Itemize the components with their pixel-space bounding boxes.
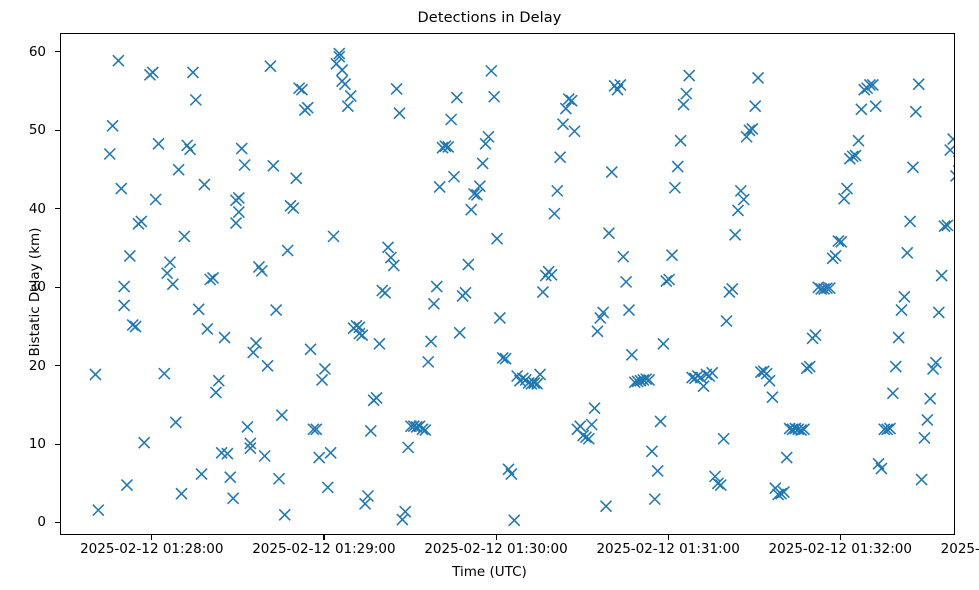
scatter-point bbox=[876, 463, 887, 474]
scatter-point bbox=[477, 158, 488, 169]
scatter-point bbox=[342, 101, 353, 112]
scatter-point bbox=[423, 356, 434, 367]
scatter-point bbox=[830, 250, 841, 261]
scatter-point bbox=[173, 164, 184, 175]
scatter-point bbox=[506, 469, 517, 480]
scatter-point bbox=[902, 247, 913, 258]
scatter-point bbox=[190, 94, 201, 105]
scatter-point bbox=[256, 265, 267, 276]
x-tick-mark bbox=[840, 535, 841, 540]
scatter-point bbox=[119, 281, 130, 292]
scatter-point bbox=[282, 245, 293, 256]
scatter-point bbox=[649, 494, 660, 505]
scatter-point bbox=[446, 114, 457, 125]
scatter-point bbox=[919, 432, 930, 443]
scatter-point bbox=[615, 79, 626, 90]
scatter-point bbox=[317, 374, 328, 385]
scatter-point bbox=[262, 360, 273, 371]
scatter-point bbox=[893, 332, 904, 343]
scatter-point bbox=[116, 183, 127, 194]
scatter-point bbox=[236, 143, 247, 154]
scatter-point bbox=[592, 326, 603, 337]
scatter-point bbox=[936, 270, 947, 281]
scatter-point bbox=[537, 287, 548, 298]
scatter-point bbox=[896, 305, 907, 316]
scatter-point bbox=[890, 361, 901, 372]
scatter-point bbox=[159, 368, 170, 379]
scatter-point bbox=[259, 450, 270, 461]
x-tick-label: 2025-02-12 01:33:00 bbox=[902, 541, 979, 557]
scatter-point bbox=[675, 135, 686, 146]
scatter-point bbox=[196, 469, 207, 480]
scatter-point bbox=[623, 305, 634, 316]
scatter-point bbox=[337, 65, 348, 76]
scatter-point bbox=[721, 316, 732, 327]
scatter-point bbox=[684, 70, 695, 81]
x-tick-mark bbox=[151, 535, 152, 540]
scatter-point bbox=[251, 338, 262, 349]
figure-canvas: Detections in Delay 0102030405060 2025-0… bbox=[0, 0, 979, 590]
scatter-point bbox=[558, 119, 569, 130]
scatter-point bbox=[374, 338, 385, 349]
scatter-point bbox=[672, 161, 683, 172]
scatter-point bbox=[569, 126, 580, 137]
scatter-point bbox=[136, 216, 147, 227]
scatter-point bbox=[598, 307, 609, 318]
scatter-point bbox=[388, 260, 399, 271]
y-tick-label: 0 bbox=[0, 514, 46, 530]
scatter-point bbox=[431, 281, 442, 292]
scatter-point bbox=[150, 194, 161, 205]
scatter-point bbox=[193, 304, 204, 315]
scatter-point bbox=[856, 104, 867, 115]
scatter-point bbox=[945, 145, 955, 156]
scatter-point bbox=[870, 101, 881, 112]
scatter-point bbox=[239, 159, 250, 170]
scatter-point bbox=[451, 92, 462, 103]
x-tick-mark bbox=[323, 535, 324, 540]
scatter-point bbox=[276, 410, 287, 421]
scatter-point bbox=[448, 171, 459, 182]
scatter-point bbox=[383, 242, 394, 253]
scatter-point bbox=[953, 156, 955, 167]
scatter-point bbox=[549, 208, 560, 219]
scatter-point bbox=[655, 416, 666, 427]
scatter-point bbox=[124, 250, 135, 261]
scatter-point bbox=[365, 425, 376, 436]
scatter-point bbox=[371, 392, 382, 403]
scatter-point bbox=[922, 414, 933, 425]
scatter-point bbox=[391, 83, 402, 94]
scatter-point bbox=[185, 144, 196, 155]
scatter-point bbox=[119, 300, 130, 311]
y-tick-mark bbox=[55, 130, 60, 131]
scatter-point bbox=[345, 90, 356, 101]
scatter-point bbox=[753, 72, 764, 83]
scatter-point bbox=[767, 392, 778, 403]
scatter-point bbox=[552, 185, 563, 196]
scatter-point bbox=[302, 102, 313, 113]
scatter-point bbox=[397, 514, 408, 525]
scatter-point bbox=[658, 338, 669, 349]
scatter-point bbox=[139, 437, 150, 448]
scatter-point bbox=[474, 181, 485, 192]
scatter-point bbox=[213, 375, 224, 386]
scatter-point bbox=[810, 330, 821, 341]
y-tick-mark bbox=[55, 444, 60, 445]
scatter-point bbox=[887, 388, 898, 399]
scatter-point bbox=[853, 135, 864, 146]
scatter-point bbox=[839, 193, 850, 204]
scatter-point bbox=[589, 403, 600, 414]
scatter-point bbox=[560, 103, 571, 114]
scatter-point bbox=[328, 231, 339, 242]
scatter-point bbox=[460, 287, 471, 298]
scatter-point bbox=[274, 473, 285, 484]
scatter-point bbox=[360, 498, 371, 509]
scatter-point bbox=[162, 268, 173, 279]
scatter-point bbox=[90, 369, 101, 380]
scatter-point bbox=[486, 65, 497, 76]
scatter-point bbox=[394, 108, 405, 119]
scatter-point bbox=[494, 312, 505, 323]
scatter-point bbox=[426, 336, 437, 347]
scatter-point bbox=[718, 433, 729, 444]
scatter-point bbox=[268, 160, 279, 171]
y-tick-mark bbox=[55, 365, 60, 366]
scatter-point bbox=[291, 173, 302, 184]
scatter-point bbox=[322, 482, 333, 493]
y-tick-label: 60 bbox=[0, 44, 46, 60]
scatter-point bbox=[781, 452, 792, 463]
scatter-point bbox=[575, 421, 586, 432]
scatter-point bbox=[179, 231, 190, 242]
y-tick-mark bbox=[55, 522, 60, 523]
y-tick-mark bbox=[55, 51, 60, 52]
scatter-point bbox=[339, 79, 350, 90]
scatter-point bbox=[646, 446, 657, 457]
scatter-point bbox=[603, 228, 614, 239]
y-tick-mark bbox=[55, 287, 60, 288]
scatter-point bbox=[907, 162, 918, 173]
scatter-point bbox=[466, 204, 477, 215]
scatter-point bbox=[225, 472, 236, 483]
scatter-point bbox=[951, 170, 956, 181]
scatter-point bbox=[546, 269, 557, 280]
scatter-point bbox=[248, 347, 259, 358]
scatter-point bbox=[385, 252, 396, 263]
scatter-point bbox=[216, 447, 227, 458]
scatter-point bbox=[121, 480, 132, 491]
scatter-point bbox=[454, 327, 465, 338]
scatter-point bbox=[586, 419, 597, 430]
scatter-point bbox=[618, 251, 629, 262]
scatter-point bbox=[601, 501, 612, 512]
scatter-point bbox=[325, 447, 336, 458]
scatter-point bbox=[199, 179, 210, 190]
scatter-point bbox=[153, 138, 164, 149]
scatter-point bbox=[288, 203, 299, 214]
scatter-point bbox=[489, 91, 500, 102]
scatter-point bbox=[750, 101, 761, 112]
scatter-point bbox=[222, 448, 233, 459]
scatter-point bbox=[669, 182, 680, 193]
scatter-point bbox=[187, 67, 198, 78]
scatter-point bbox=[732, 205, 743, 216]
scatter-point bbox=[698, 381, 709, 392]
scatter-point bbox=[228, 493, 239, 504]
scatter-point bbox=[735, 185, 746, 196]
scatter-point bbox=[233, 207, 244, 218]
scatter-point bbox=[681, 88, 692, 99]
scatter-point bbox=[362, 490, 373, 501]
scatter-point bbox=[210, 387, 221, 398]
plot-axes-area[interactable] bbox=[60, 33, 955, 535]
scatter-point bbox=[913, 79, 924, 90]
scatter-point bbox=[509, 515, 520, 526]
scatter-point bbox=[219, 332, 230, 343]
y-tick-label: 50 bbox=[0, 122, 46, 138]
scatter-point bbox=[626, 349, 637, 360]
scatter-point bbox=[279, 509, 290, 520]
scatter-point bbox=[434, 181, 445, 192]
scatter-point bbox=[233, 192, 244, 203]
scatter-point bbox=[165, 257, 176, 268]
scatter-point bbox=[400, 506, 411, 517]
scatter-point bbox=[925, 393, 936, 404]
scatter-point bbox=[176, 488, 187, 499]
scatter-point bbox=[555, 152, 566, 163]
scatter-point bbox=[319, 363, 330, 374]
scatter-point bbox=[933, 307, 944, 318]
scatter-point bbox=[167, 279, 178, 290]
scatter-point bbox=[265, 61, 276, 72]
scatter-point bbox=[899, 291, 910, 302]
scatter-point bbox=[271, 305, 282, 316]
y-tick-mark bbox=[55, 208, 60, 209]
scatter-point bbox=[492, 233, 503, 244]
scatter-point bbox=[916, 474, 927, 485]
scatter-point bbox=[727, 283, 738, 294]
scatter-point bbox=[910, 106, 921, 117]
scatter-point bbox=[730, 229, 741, 240]
y-tick-label: 10 bbox=[0, 436, 46, 452]
scatter-point bbox=[113, 55, 124, 66]
scatter-point bbox=[678, 99, 689, 110]
scatter-point bbox=[428, 298, 439, 309]
y-axis-label: Bistatic Delay (km) bbox=[27, 192, 43, 392]
scatter-point bbox=[305, 344, 316, 355]
scatter-point bbox=[202, 323, 213, 334]
scatter-point bbox=[905, 216, 916, 227]
scatter-point bbox=[667, 250, 678, 261]
scatter-point bbox=[738, 194, 749, 205]
scatter-point bbox=[948, 134, 955, 145]
scatter-point bbox=[463, 259, 474, 270]
scatter-point bbox=[314, 452, 325, 463]
x-tick-mark bbox=[496, 535, 497, 540]
scatter-series-layer bbox=[61, 34, 955, 535]
scatter-point bbox=[93, 505, 104, 516]
scatter-point bbox=[841, 183, 852, 194]
scatter-point bbox=[170, 417, 181, 428]
scatter-point bbox=[147, 67, 158, 78]
scatter-point bbox=[403, 442, 414, 453]
x-tick-mark bbox=[668, 535, 669, 540]
scatter-point bbox=[652, 465, 663, 476]
x-axis-label: Time (UTC) bbox=[0, 564, 979, 580]
scatter-point bbox=[621, 276, 632, 287]
scatter-point bbox=[606, 167, 617, 178]
scatter-point bbox=[380, 287, 391, 298]
scatter-point bbox=[230, 218, 241, 229]
chart-title: Detections in Delay bbox=[0, 10, 979, 26]
scatter-point bbox=[104, 149, 115, 160]
scatter-point bbox=[242, 421, 253, 432]
scatter-point bbox=[107, 120, 118, 131]
